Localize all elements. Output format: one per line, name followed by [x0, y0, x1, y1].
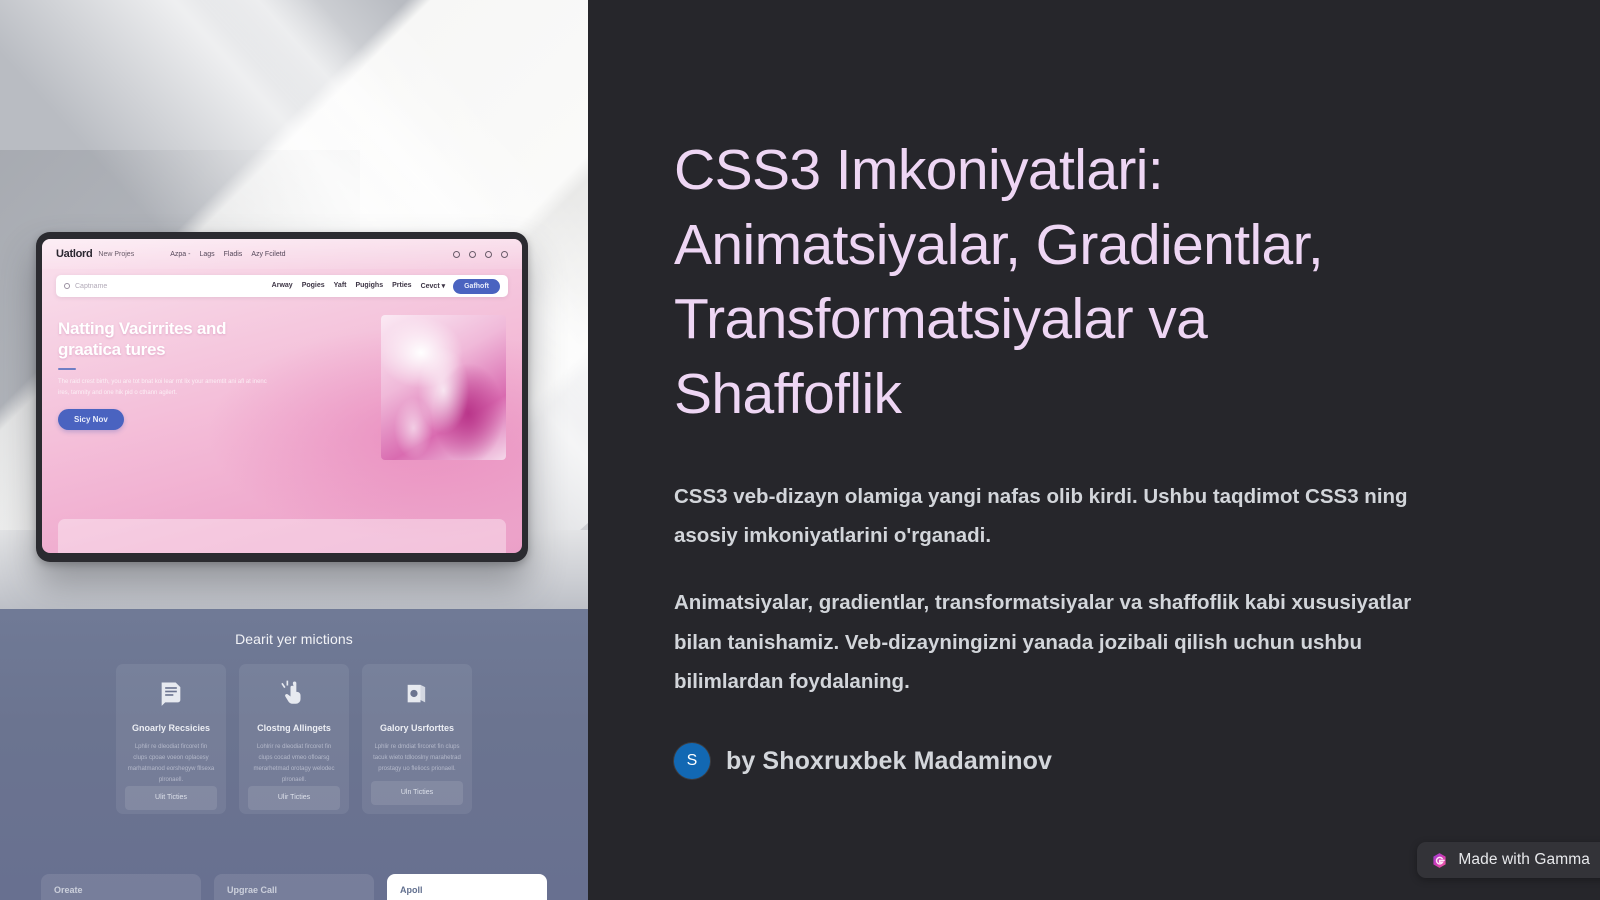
mock-topnav: Azpa - Lags Fladis Azy Fciletd — [170, 251, 285, 258]
mock-cta-button[interactable]: Gafhoft — [453, 279, 500, 294]
search-icon[interactable] — [501, 251, 508, 258]
feature-card-title: Galory Usrforttes — [380, 723, 454, 734]
mock-topnav-item[interactable]: Lags — [199, 251, 214, 258]
feature-secondary-row: Oreate Upgrae Call Apoll — [0, 874, 588, 900]
slide-paragraph-2: Animatsiyalar, gradientlar, transformats… — [674, 583, 1434, 701]
pin-icon[interactable] — [453, 251, 460, 258]
mock-search-bar[interactable]: Captname Arway Pogies Yaft Pugighs Prtie… — [56, 275, 508, 297]
mock-navlink[interactable]: Yaft — [334, 282, 347, 290]
tablet-device: Uatlord New Projes Azpa - Lags Fladis Az… — [36, 232, 528, 562]
mock-navlink[interactable]: Arway — [272, 282, 293, 290]
gamma-hexagon-icon — [1431, 852, 1448, 869]
tablet-photo-scene: Uatlord New Projes Azpa - Lags Fladis Az… — [0, 0, 588, 610]
presentation-slide: Uatlord New Projes Azpa - Lags Fladis Az… — [0, 0, 1600, 900]
feature-card-action[interactable]: Uln Ticties — [371, 781, 463, 805]
mock-navlink[interactable]: Prties — [392, 282, 411, 290]
mock-navlink-dropdown[interactable]: Cevct ▾ — [421, 282, 446, 290]
mock-hero-title: Natting Vacirrites and graatica tures — [58, 319, 268, 360]
feature-card-title: Gnoarly Recsicies — [132, 723, 210, 734]
feature-card[interactable]: Gnoarly Recsicies Lphlir re dleodiat fir… — [116, 664, 226, 814]
mock-topbar: Uatlord New Projes Azpa - Lags Fladis Az… — [42, 239, 522, 269]
author-name: by Shoxruxbek Madaminov — [726, 747, 1052, 776]
feature-secondary-card-active[interactable]: Apoll — [387, 874, 547, 900]
tablet-screen: Uatlord New Projes Azpa - Lags Fladis Az… — [42, 239, 522, 553]
slide-paragraph-1: CSS3 veb-dizayn olamiga yangi nafas olib… — [674, 477, 1434, 556]
cube-stack-icon — [403, 679, 431, 707]
mock-brand-subtitle: New Projes — [98, 251, 134, 258]
mock-navlink[interactable]: Pogies — [302, 282, 325, 290]
pointing-hand-icon — [280, 679, 308, 707]
mock-hero-divider — [58, 368, 76, 370]
gamma-badge-label: Made with Gamma — [1458, 851, 1590, 869]
mock-brand: Uatlord — [56, 248, 92, 260]
slide-byline: S by Shoxruxbek Madaminov — [674, 743, 1600, 779]
mock-hero: Natting Vacirrites and graatica tures Th… — [58, 319, 268, 430]
mock-hero-artwork — [381, 315, 506, 460]
avatar: S — [674, 743, 710, 779]
feature-section-heading: Dearit yer mictions — [0, 631, 588, 647]
home-icon[interactable] — [485, 251, 492, 258]
feature-card-body: Lohlrir re dleodiat fircoret fin clups c… — [250, 742, 338, 786]
mock-navlink[interactable]: Pugighs — [355, 282, 383, 290]
feature-card-body: Lphlir re dmdiat fircoret fin clups tacu… — [373, 742, 461, 775]
mock-hero-button[interactable]: Sicy Nov — [58, 409, 124, 430]
slide-title: CSS3 Imkoniyatlari: Animatsiyalar, Gradi… — [674, 133, 1414, 432]
mock-navlinks: Arway Pogies Yaft Pugighs Prties Cevct ▾ — [272, 282, 445, 290]
mock-topnav-item[interactable]: Azy Fciletd — [251, 251, 285, 258]
magnifier-icon — [64, 283, 70, 289]
feature-secondary-card[interactable]: Upgrae Call — [214, 874, 374, 900]
tag-icon[interactable] — [469, 251, 476, 258]
slide-media-panel: Uatlord New Projes Azpa - Lags Fladis Az… — [0, 0, 588, 900]
made-with-gamma-badge[interactable]: Made with Gamma — [1417, 842, 1600, 878]
feature-card-body: Lphlir re dleodiat fircoret fin clups cp… — [127, 742, 215, 786]
feature-card[interactable]: Galory Usrforttes Lphlir re dmdiat firco… — [362, 664, 472, 814]
mock-search-placeholder: Captname — [75, 283, 107, 290]
feature-secondary-card[interactable]: Oreate — [41, 874, 201, 900]
mock-footer-card — [58, 519, 506, 553]
mock-topnav-item[interactable]: Fladis — [224, 251, 243, 258]
slide-content-panel: CSS3 Imkoniyatlari: Animatsiyalar, Gradi… — [588, 0, 1600, 900]
mock-topnav-item[interactable]: Azpa - — [170, 251, 190, 258]
feature-card-action[interactable]: Ulit Ticties — [125, 786, 217, 810]
feature-card-title: Clostng Allingets — [257, 723, 331, 734]
feature-card-list: Gnoarly Recsicies Lphlir re dleodiat fir… — [0, 664, 588, 814]
feature-section: Dearit yer mictions Gnoarly Recsicies Lp… — [0, 609, 588, 900]
mock-hero-body: The raid crest birth, you are tot bnat k… — [58, 377, 268, 398]
mock-topbar-icons — [453, 251, 508, 258]
feature-card-action[interactable]: Ulir Ticties — [248, 786, 340, 810]
document-lines-icon — [157, 679, 185, 707]
feature-card[interactable]: Clostng Allingets Lohlrir re dleodiat fi… — [239, 664, 349, 814]
